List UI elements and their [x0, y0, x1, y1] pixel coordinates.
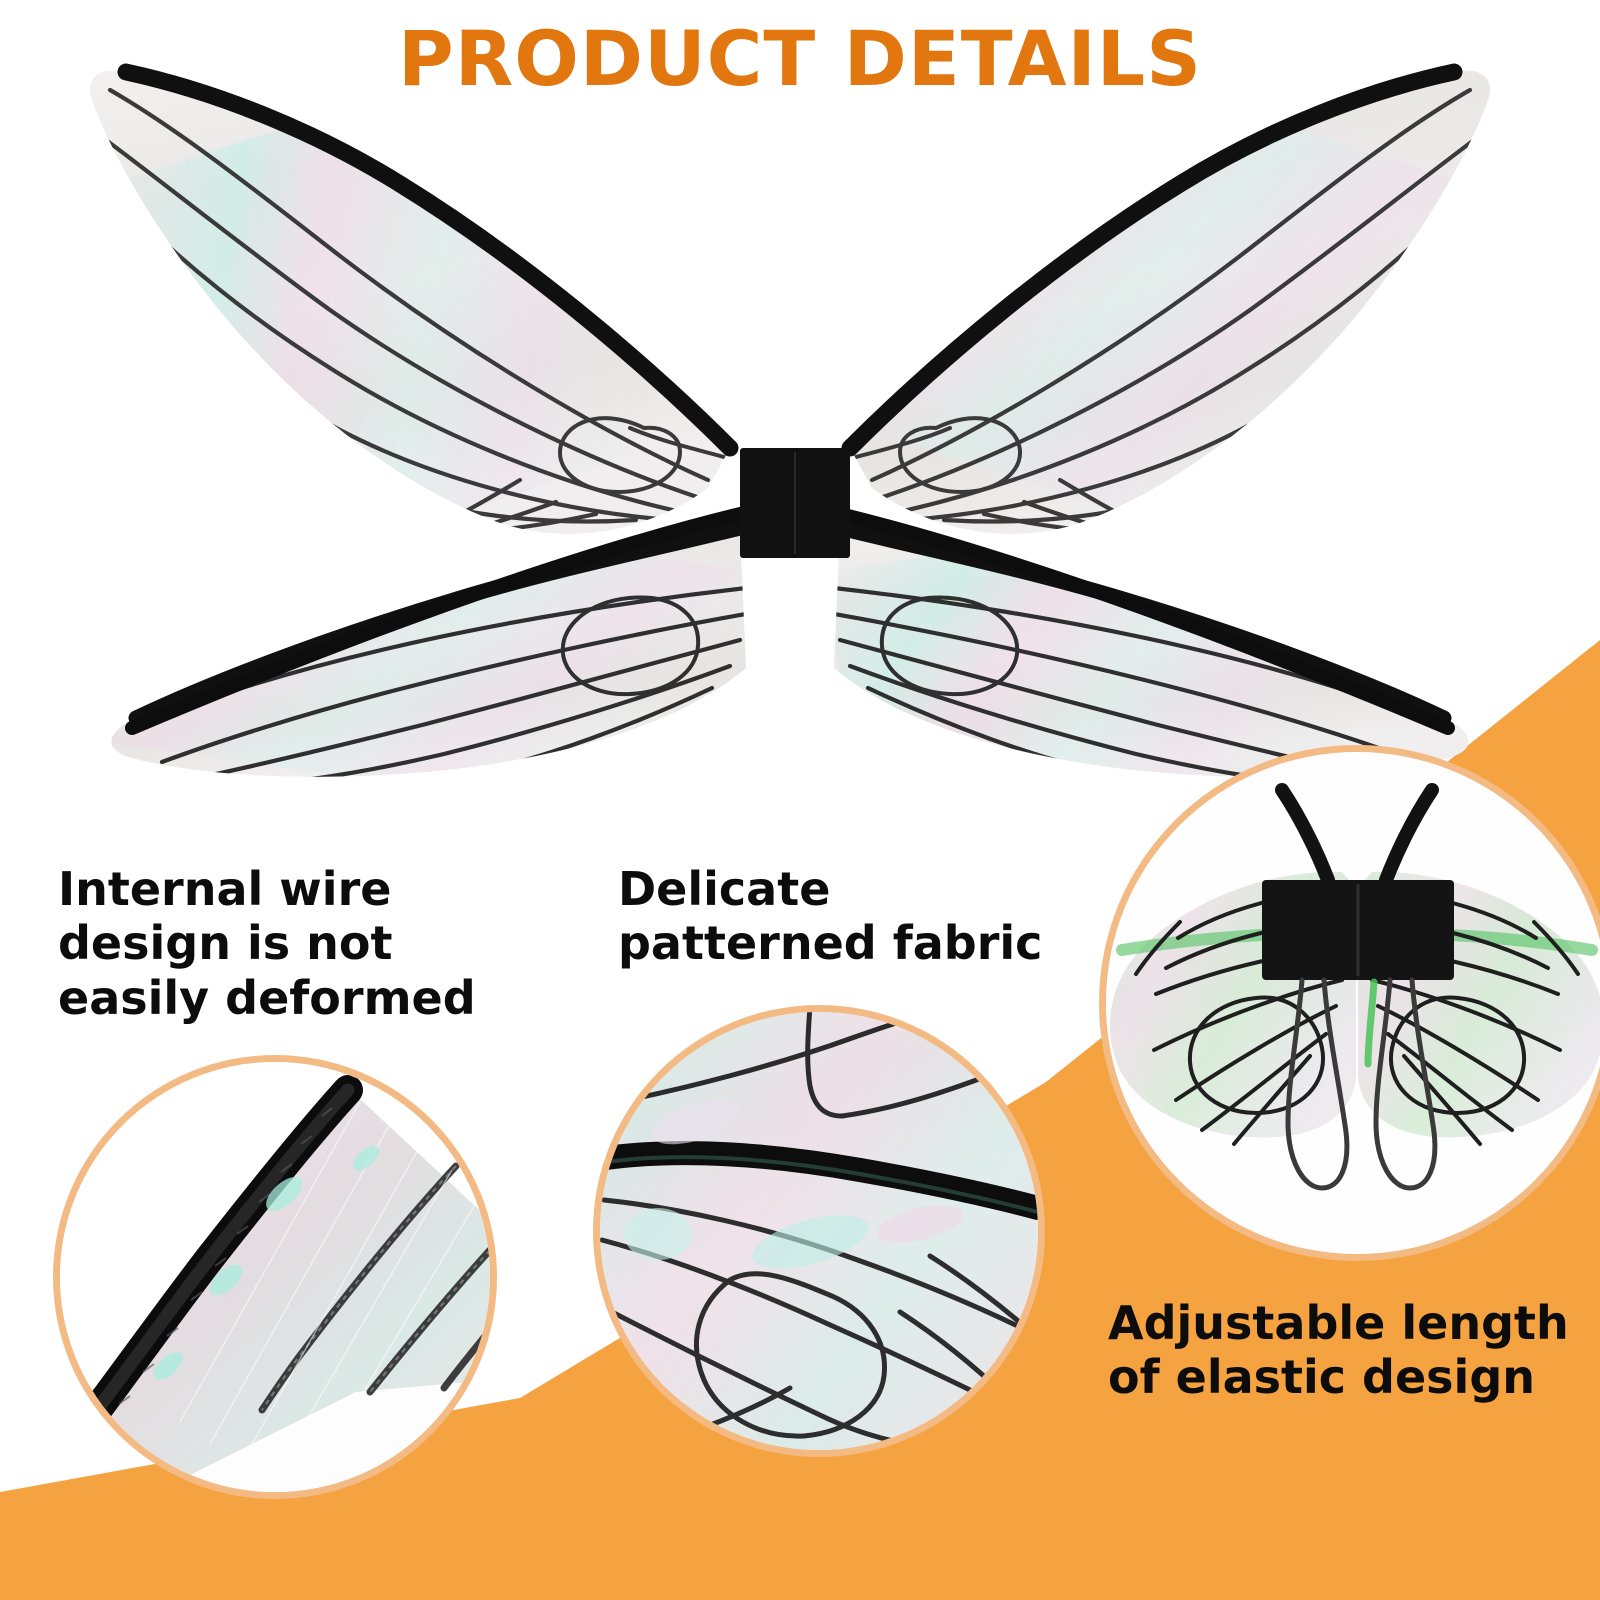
detail-circle-patterned-fabric — [600, 1012, 1038, 1450]
detail-circle-adjustable-elastic — [1106, 752, 1600, 1254]
callout-caption-internal-wire: Internal wire design is not easily defor… — [58, 862, 478, 1025]
wing-upper-right — [809, 28, 1490, 584]
callout-caption-patterned-fabric: Delicate patterned fabric — [618, 862, 1088, 971]
internal-wire-closeup-image — [60, 1062, 490, 1492]
adjustable-elastic-closeup-image — [1106, 752, 1600, 1254]
patterned-fabric-closeup-image — [600, 1012, 1038, 1450]
hero-wings-image — [40, 28, 1540, 818]
detail-circle-internal-wire — [60, 1062, 490, 1492]
product-details-infographic: PRODUCT DETAILS — [0, 0, 1600, 1600]
callout-caption-adjustable-elastic: Adjustable length of elastic design — [1108, 1296, 1600, 1405]
page-title: PRODUCT DETAILS — [0, 14, 1600, 103]
wing-upper-left — [90, 28, 771, 584]
